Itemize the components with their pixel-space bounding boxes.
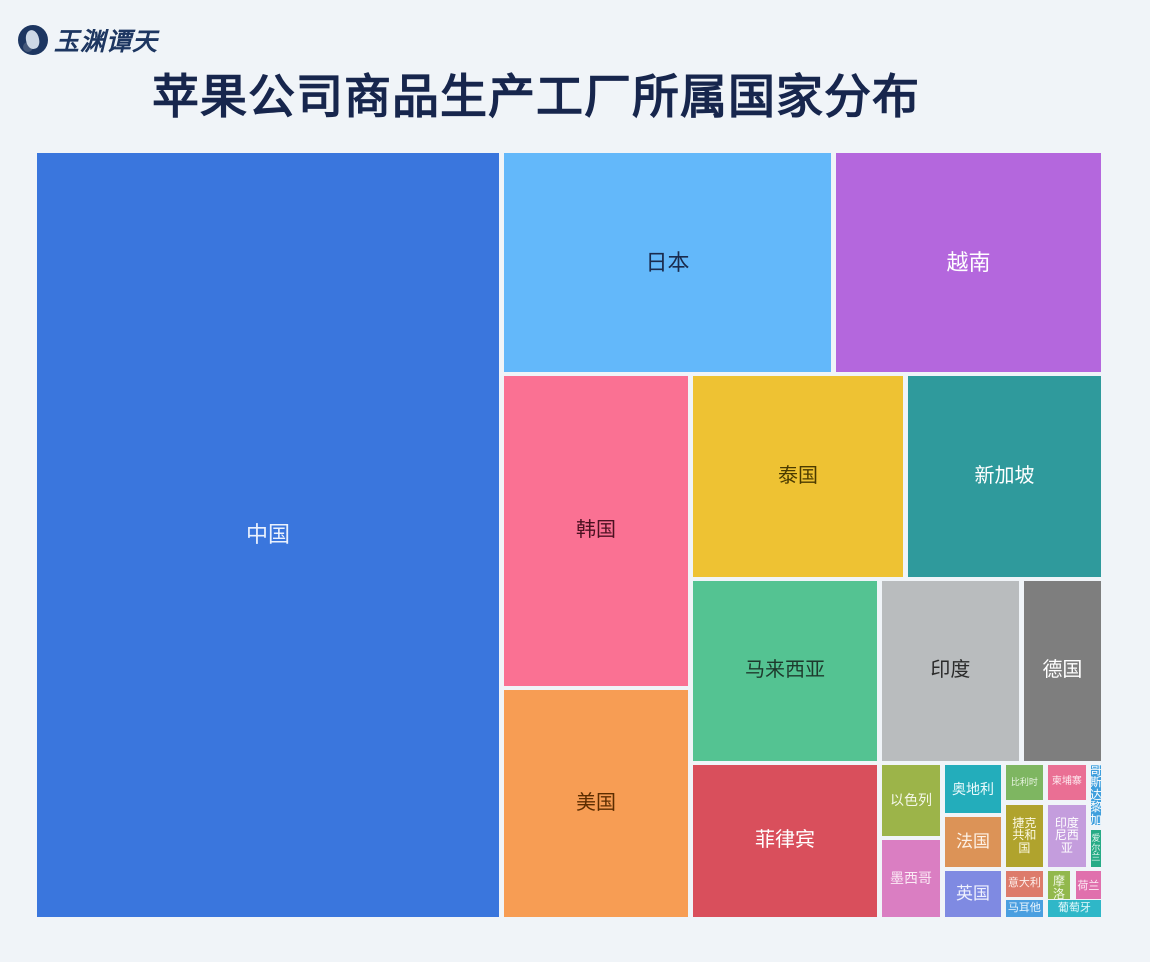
page-header: 玉渊谭天 苹果公司商品生产工厂所属国家分布 [0,0,1150,140]
treemap-tile[interactable]: 菲律宾 [692,764,878,918]
brand-name: 玉渊谭天 [54,22,158,58]
treemap-tile-label: 比利时 [1010,777,1039,788]
page-title: 苹果公司商品生产工厂所属国家分布 [152,58,920,127]
treemap-tile[interactable]: 泰国 [692,375,904,578]
treemap-tile-label: 哥斯达黎加 [1090,764,1102,826]
treemap-tile[interactable]: 印度 [881,580,1020,762]
treemap-tile[interactable]: 意大利 [1005,870,1044,898]
treemap-tile[interactable]: 中国 [36,152,500,918]
treemap-tile-label: 法国 [955,832,991,852]
treemap-tile-label: 日本 [644,250,690,275]
treemap-tile-label: 捷克共和国 [1006,816,1043,856]
treemap-tile-label: 中国 [245,522,291,547]
treemap-tile-label: 韩国 [575,519,617,542]
treemap-chart: 中国日本越南韩国泰国新加坡马来西亚印度德国美国菲律宾以色列墨西哥奥地利法国英国比… [36,152,1102,918]
treemap-tile-label: 马来西亚 [744,659,826,682]
treemap-tile-label: 荷兰 [1076,880,1100,894]
treemap-tile-label: 印度尼西亚 [1048,816,1086,856]
treemap-tile-label: 爱尔兰 [1090,833,1101,863]
treemap-tile-label: 奥地利 [951,781,995,798]
treemap-tile[interactable]: 韩国 [503,375,689,687]
treemap-tile[interactable]: 英国 [944,870,1002,918]
treemap-tile-label: 以色列 [889,792,933,809]
treemap-tile[interactable]: 马来西亚 [692,580,878,762]
treemap-tile[interactable]: 新加坡 [907,375,1102,578]
treemap-tile-label: 意大利 [1007,877,1042,891]
treemap-tile-label: 德国 [1041,659,1083,682]
treemap-tile[interactable]: 奥地利 [944,764,1002,814]
treemap-tile-label: 越南 [945,250,991,275]
treemap-tile-label: 英国 [955,884,991,904]
treemap-tile-label: 新加坡 [974,465,1036,488]
treemap-tile[interactable]: 马耳他 [1005,899,1044,918]
treemap-tile-label: 柬埔寨 [1051,776,1083,789]
treemap-tile[interactable]: 墨西哥 [881,839,941,918]
treemap-tile[interactable]: 以色列 [881,764,941,837]
treemap-tile-label: 泰国 [777,465,819,488]
treemap-tile-label: 菲律宾 [754,829,816,852]
circular-wave-emblem-icon [18,25,48,55]
treemap-tile[interactable]: 爱尔兰 [1090,829,1102,867]
treemap-tile[interactable]: 葡萄牙 [1047,899,1102,918]
treemap-tile-label: 墨西哥 [889,870,933,887]
treemap-tile[interactable]: 哥斯达黎加 [1090,764,1102,826]
treemap-tile[interactable]: 德国 [1023,580,1102,762]
treemap-tile[interactable]: 印度尼西亚 [1047,804,1087,868]
treemap-tile[interactable]: 捷克共和国 [1005,804,1044,868]
treemap-tile[interactable]: 柬埔寨 [1047,764,1087,801]
screenshot-root: 玉渊谭天 苹果公司商品生产工厂所属国家分布 中国日本越南韩国泰国新加坡马来西亚印… [0,0,1150,962]
treemap-tile[interactable]: 越南 [835,152,1102,373]
treemap-tile[interactable]: 法国 [944,816,1002,868]
brand-logo: 玉渊谭天 [18,22,158,58]
treemap-tile[interactable]: 日本 [503,152,832,373]
treemap-tile[interactable]: 美国 [503,689,689,918]
treemap-tile-label: 马耳他 [1007,902,1042,916]
treemap-tile[interactable]: 比利时 [1005,764,1044,801]
treemap-tile-label: 葡萄牙 [1057,902,1092,916]
treemap-tile-label: 印度 [929,659,971,682]
treemap-tile-label: 美国 [575,792,617,815]
